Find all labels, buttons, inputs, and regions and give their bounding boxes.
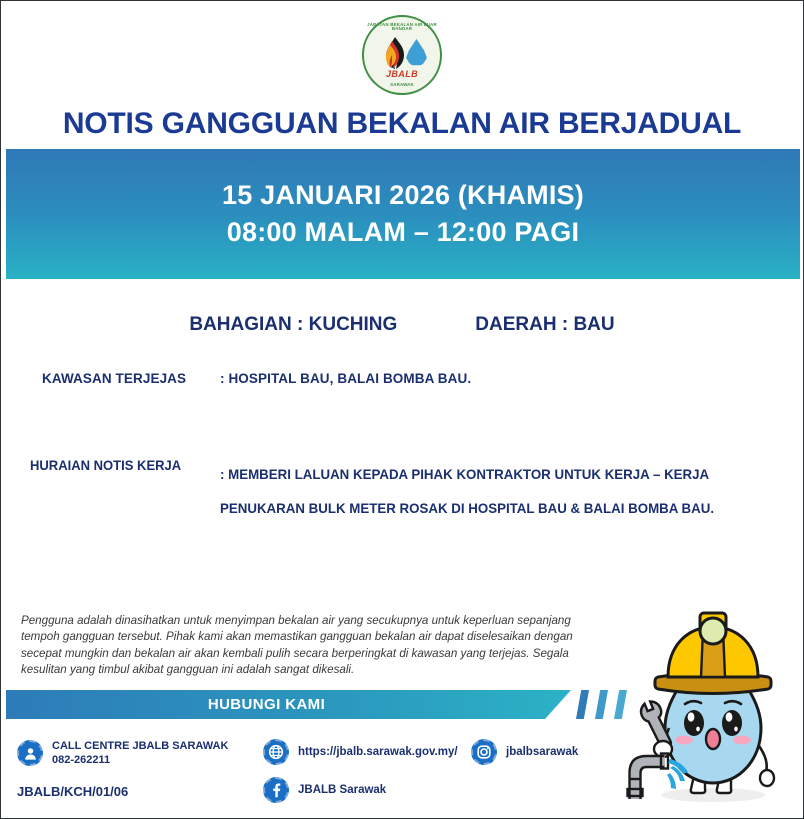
affected-area-label: KAWASAN TERJEJAS [42,371,220,386]
notice-date: 15 JANUARI 2026 (KHAMIS) [222,180,584,211]
call-centre-phone: 082-262211 [52,753,228,767]
contact-bar-shape: HUBUNGI KAMI [6,690,571,719]
facebook-item[interactable]: JBALB Sarawak [263,777,386,803]
division-label: BAHAGIAN : KUCHING [189,314,397,336]
affected-area-value: : HOSPITAL BAU, BALAI BOMBA BAU. [220,371,471,386]
date-time-banner: 15 JANUARI 2026 (KHAMIS) 08:00 MALAM – 1… [6,149,800,279]
logo-ring-bottom-text: SARAWAK [364,83,440,87]
website-item[interactable]: https://jbalb.sarawak.gov.my/ [263,739,458,765]
district-label: DAERAH : BAU [475,314,614,336]
water-droplet-mascot [621,603,799,815]
globe-icon [263,739,289,765]
work-description-field: HURAIAN NOTIS KERJA : MEMBERI LALUAN KEP… [30,457,783,526]
work-description-value: : MEMBERI LALUAN KEPADA PIHAK KONTRAKTOR… [220,457,714,526]
logo-container: JABATAN BEKALAN AIR LUAR BANDAR JBALB SA… [1,15,803,95]
reference-number: JBALB/KCH/01/06 [17,784,128,799]
work-description-label: HURAIAN NOTIS KERJA [30,457,207,473]
facebook-icon [263,777,289,803]
decorative-stripe-2 [595,690,608,719]
logo-ring-top-text: JABATAN BEKALAN AIR LUAR BANDAR [364,23,440,32]
jbalb-logo: JABATAN BEKALAN AIR LUAR BANDAR JBALB SA… [362,15,442,95]
work-description-line-1: : MEMBERI LALUAN KEPADA PIHAK KONTRAKTOR… [220,466,709,482]
instagram-item[interactable]: jbalbsarawak [471,739,578,765]
work-description-line-2: PENUKARAN BULK METER ROSAK DI HOSPITAL B… [220,491,714,525]
website-url[interactable]: https://jbalb.sarawak.gov.my/ [298,745,458,760]
affected-area-field: KAWASAN TERJEJAS : HOSPITAL BAU, BALAI B… [42,371,471,386]
decorative-stripe-1 [576,690,589,719]
division-district-row: BAHAGIAN : KUCHING DAERAH : BAU [1,314,803,336]
notice-poster: JABATAN BEKALAN AIR LUAR BANDAR JBALB SA… [0,0,804,819]
page-title: NOTIS GANGGUAN BEKALAN AIR BERJADUAL [1,107,803,141]
call-centre-name: CALL CENTRE JBALB SARAWAK [52,740,228,752]
person-icon [17,740,43,766]
notice-time: 08:00 MALAM – 12:00 PAGI [227,217,579,248]
water-droplet-icon [406,39,427,66]
call-centre-item[interactable]: CALL CENTRE JBALB SARAWAK 082-262211 [17,739,228,767]
call-centre-text: CALL CENTRE JBALB SARAWAK 082-262211 [52,739,228,767]
contact-heading-label: HUBUNGI KAMI [208,696,325,713]
logo-acronym: JBALB [364,69,440,79]
facebook-page[interactable]: JBALB Sarawak [298,783,386,798]
disclaimer-text: Pengguna adalah dinasihatkan untuk menyi… [21,613,599,679]
contact-heading-bar: HUBUNGI KAMI [6,690,646,719]
instagram-icon [471,739,497,765]
instagram-handle[interactable]: jbalbsarawak [506,745,578,760]
flame-icon [384,37,406,69]
